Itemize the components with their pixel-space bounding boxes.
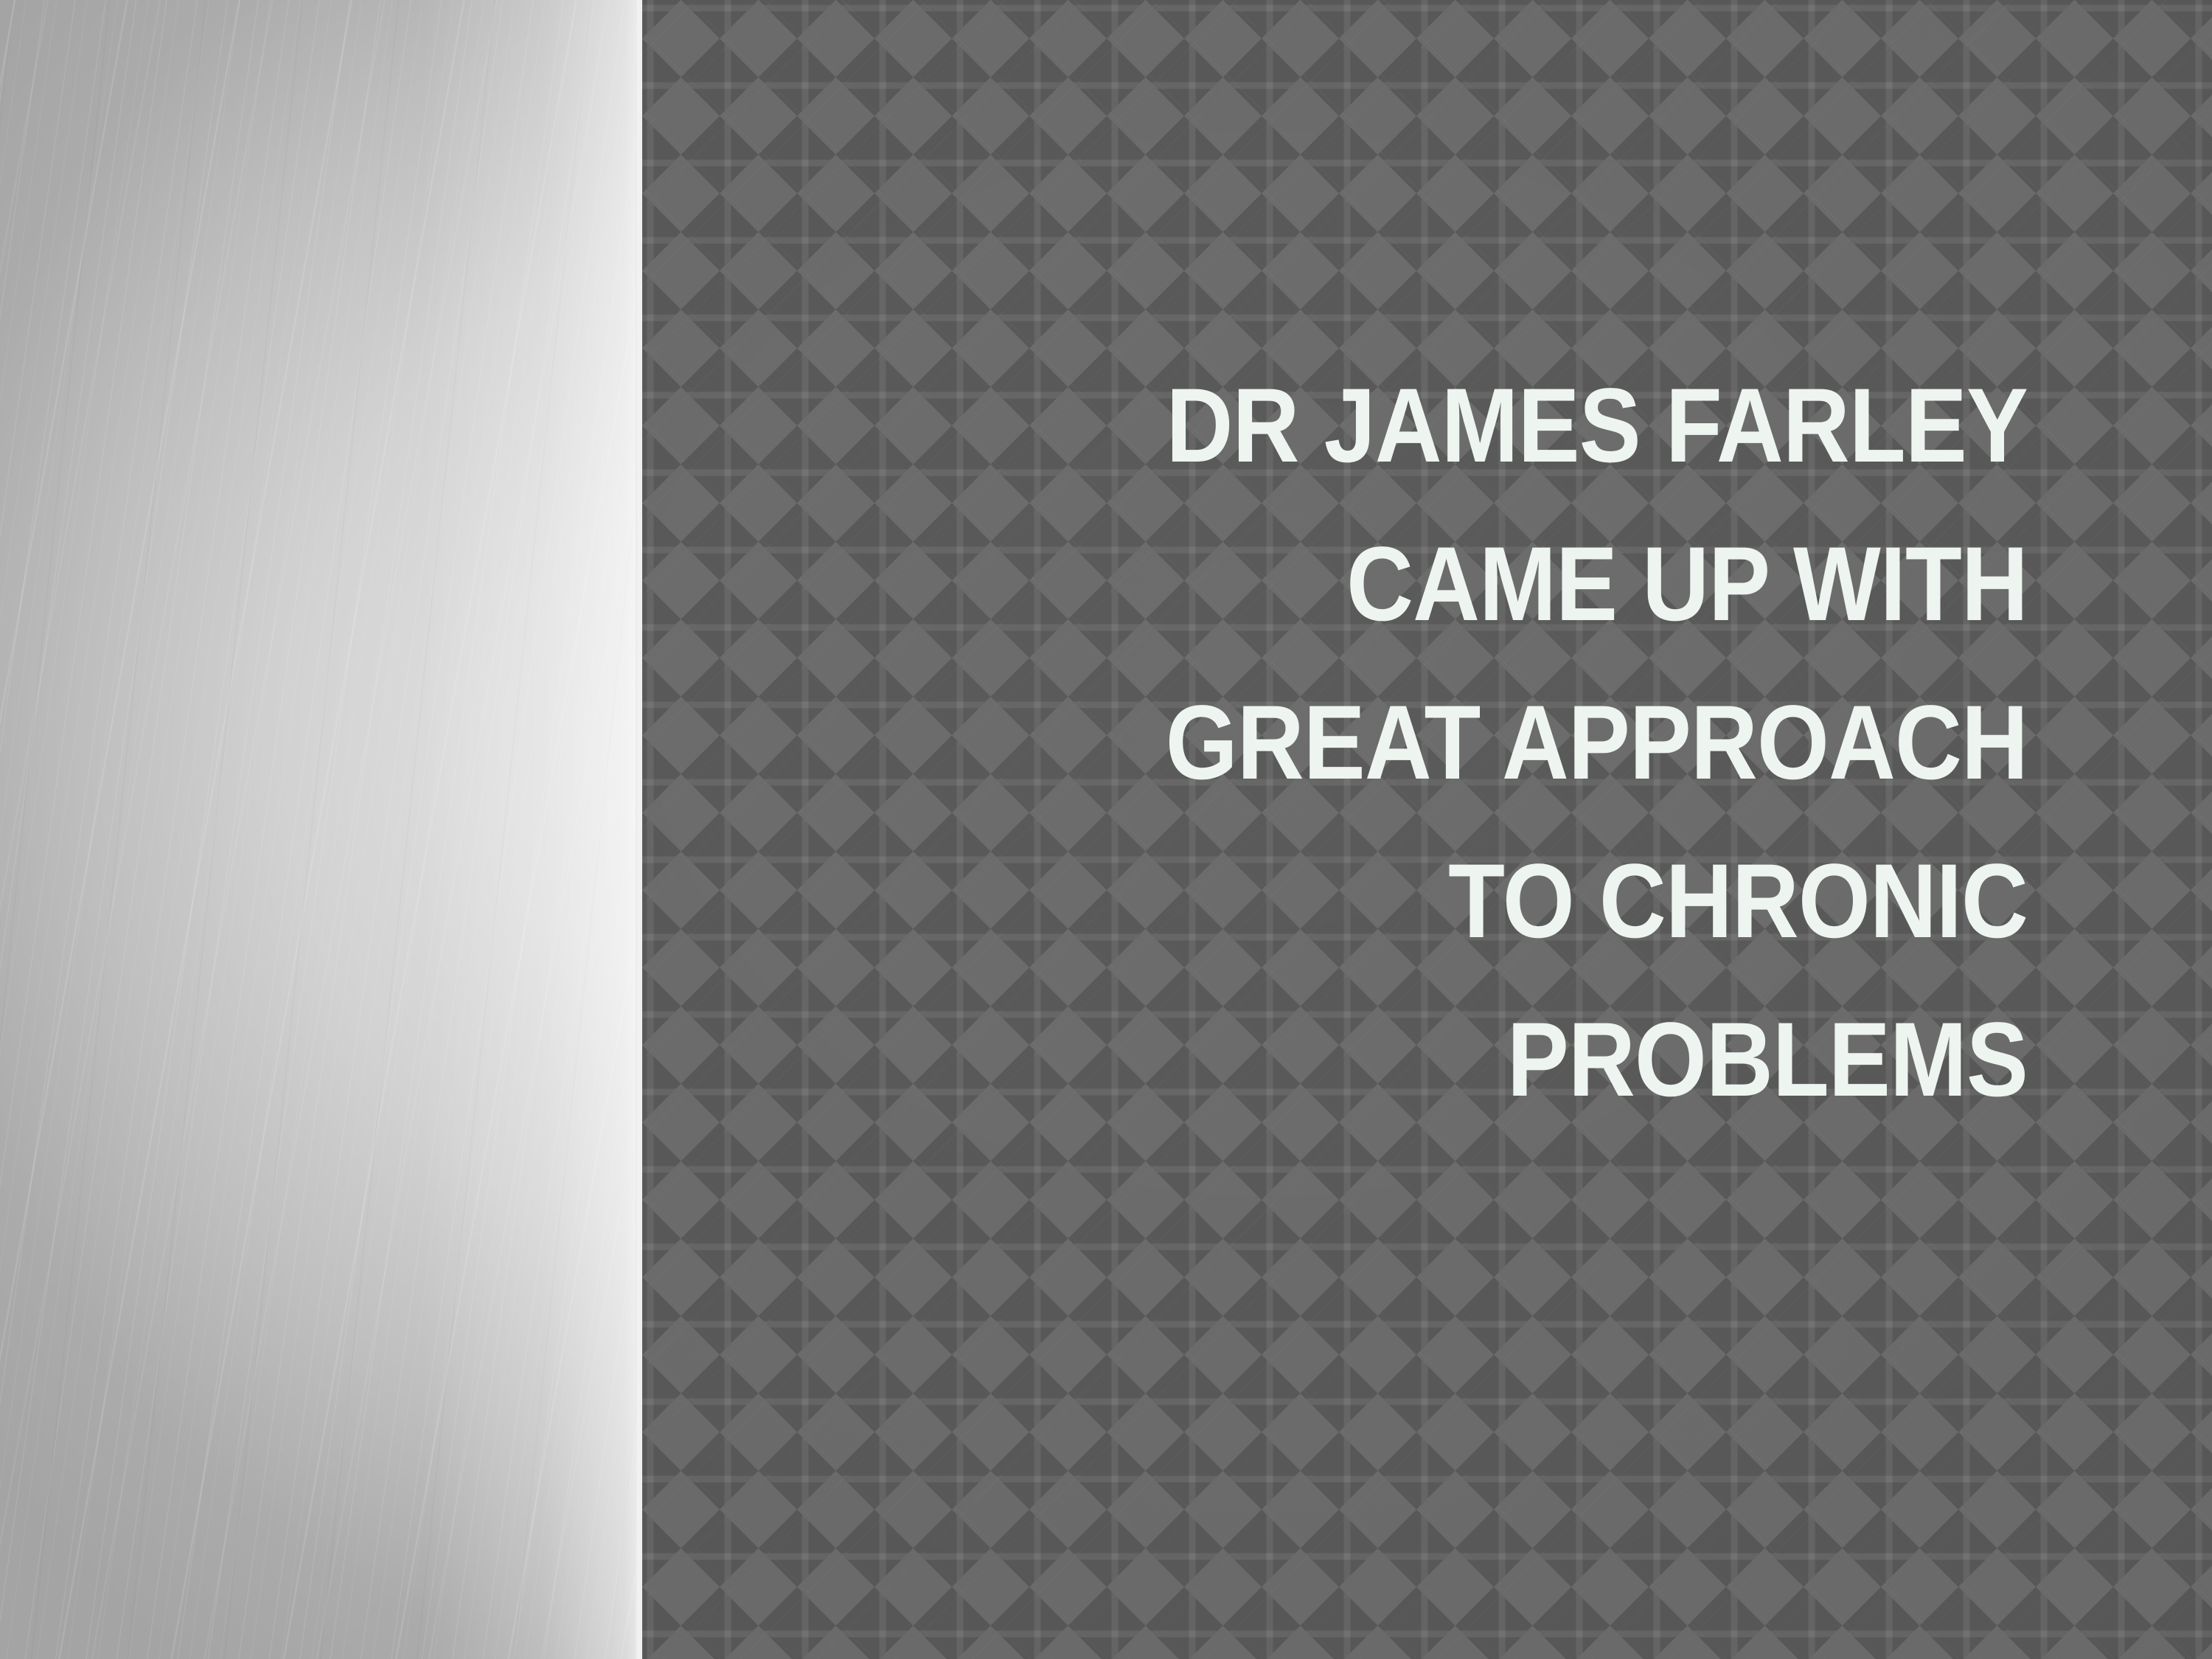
title-placeholder[interactable]: DR JAMES FARLEY CAME UP WITH GREAT APPRO… bbox=[848, 347, 2028, 1139]
left-decorative-panel bbox=[0, 0, 642, 1659]
panel-sheen-highlight bbox=[421, 0, 642, 1659]
slide-title: DR JAMES FARLEY CAME UP WITH GREAT APPRO… bbox=[990, 347, 2028, 1139]
presentation-slide: DR JAMES FARLEY CAME UP WITH GREAT APPRO… bbox=[0, 0, 2212, 1659]
right-pattern-panel: DR JAMES FARLEY CAME UP WITH GREAT APPRO… bbox=[642, 0, 2212, 1659]
panel-divider-line bbox=[636, 0, 642, 1659]
